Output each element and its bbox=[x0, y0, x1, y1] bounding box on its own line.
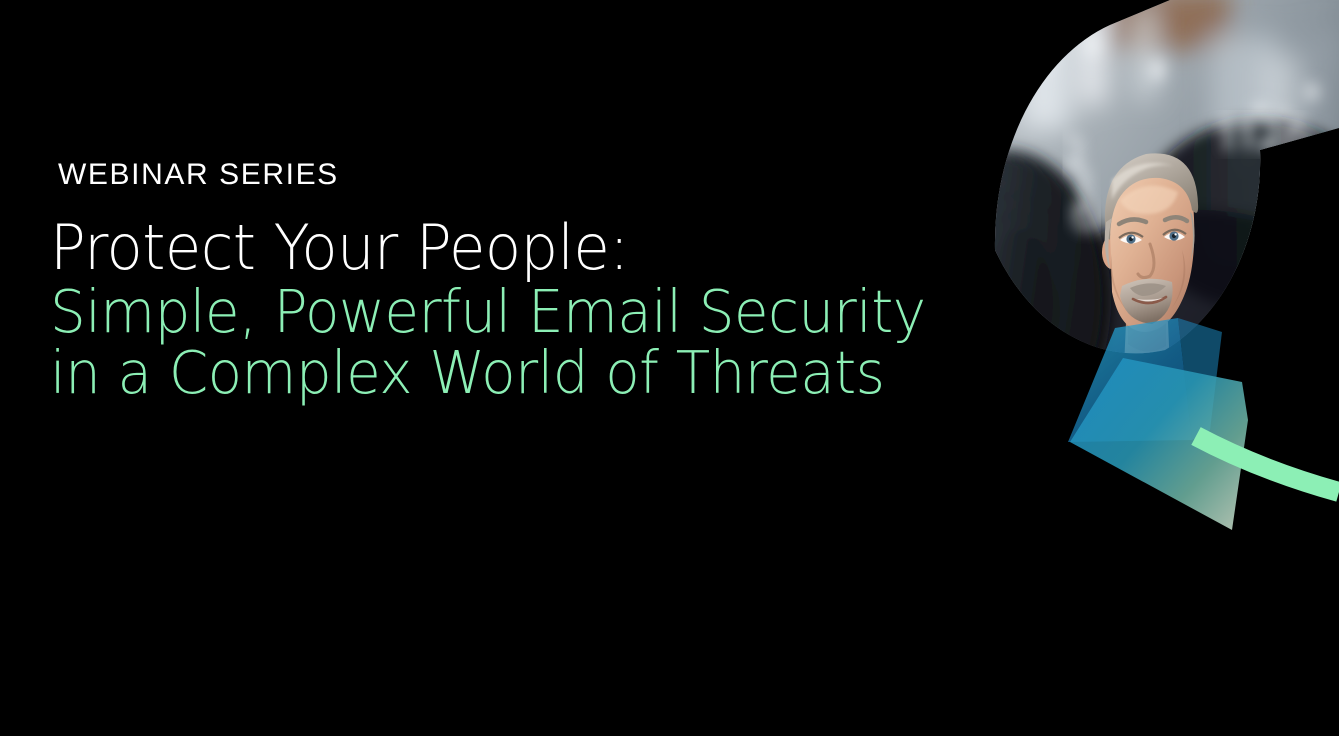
webinar-title-slide: WEBINAR SERIES Protect Your People: Simp… bbox=[0, 0, 1339, 736]
photo-crescent bbox=[960, 0, 1339, 600]
headline-line-1: Protect Your People: bbox=[50, 216, 910, 280]
headline-line-2: Simple, Powerful Email Security bbox=[50, 282, 910, 343]
eyebrow-label: WEBINAR SERIES bbox=[58, 160, 950, 190]
decor-shapes bbox=[1068, 318, 1339, 530]
blue-translucent-quadrilateral bbox=[1068, 318, 1192, 442]
page-title: Protect Your People: Simple, Powerful Em… bbox=[50, 216, 950, 403]
headline-line-3: in a Complex World of Threats bbox=[50, 343, 910, 404]
hero-graphic bbox=[960, 0, 1339, 600]
person-photo bbox=[1052, 153, 1260, 600]
blue-translucent-quadrilateral-b bbox=[1178, 318, 1222, 440]
teal-gradient-quadrilateral bbox=[1070, 358, 1248, 530]
title-text-block: WEBINAR SERIES Protect Your People: Simp… bbox=[50, 160, 950, 403]
mint-green-arc-stroke bbox=[1196, 436, 1339, 492]
